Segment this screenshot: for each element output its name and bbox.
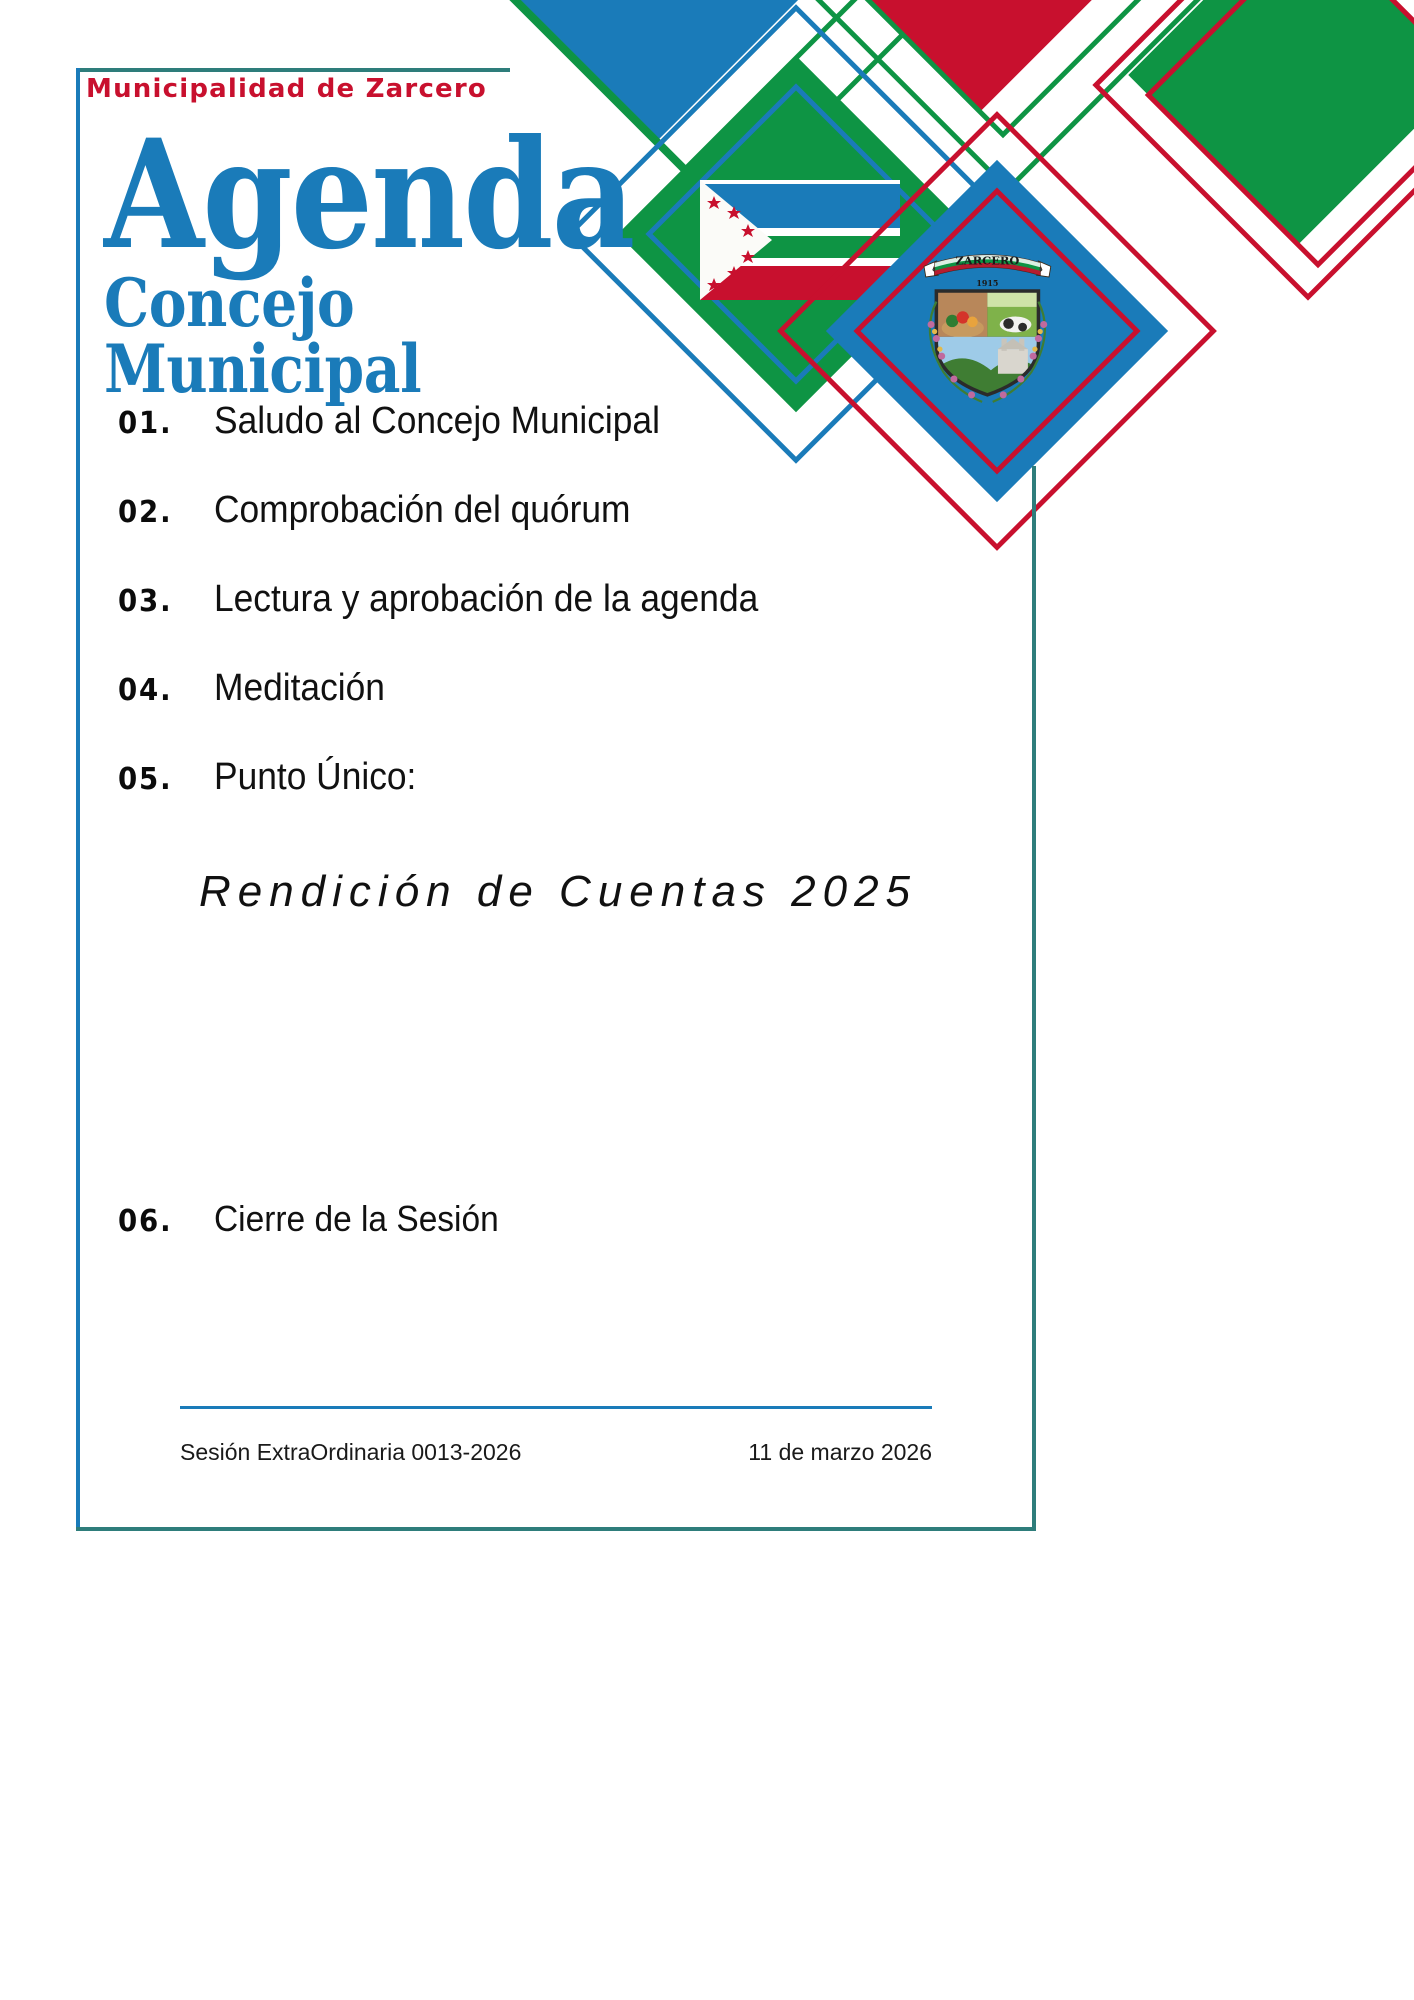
document-footer: Sesión ExtraOrdinaria 0013-2026 11 de ma… <box>180 1406 932 1466</box>
footer-divider <box>180 1406 932 1409</box>
session-label: Sesión ExtraOrdinaria 0013-2026 <box>180 1439 521 1466</box>
agenda-item-number: 06. <box>118 1204 206 1239</box>
agenda-item-number: 05. <box>118 762 206 797</box>
agenda-item-number: 03. <box>118 584 206 619</box>
frame-right-rule <box>1032 466 1036 1531</box>
session-date: 11 de marzo 2026 <box>748 1439 932 1466</box>
agenda-item-05: 05. Punto Único: <box>118 756 1018 799</box>
agenda-item-number: 01. <box>118 406 206 441</box>
agenda-item-01: 01. Saludo al Concejo Municipal <box>118 400 1018 443</box>
frame-bottom-rule <box>76 1527 1036 1531</box>
agenda-list: 01. Saludo al Concejo Municipal 02. Comp… <box>118 400 1018 845</box>
agenda-item-06: 06. Cierre de la Sesión <box>118 1198 520 1240</box>
agenda-item-number: 02. <box>118 495 206 530</box>
page-title: Agenda <box>104 126 687 264</box>
frame-top-rule <box>76 68 510 72</box>
agenda-item-label: Lectura y aprobación de la agenda <box>214 578 758 621</box>
document-header: Municipalidad de Zarcero Agenda Concejo … <box>82 74 782 402</box>
agenda-item-label: Punto Único: <box>214 756 416 799</box>
agenda-item-label: Meditación <box>214 667 385 710</box>
diamond-green-right <box>1096 0 1414 297</box>
agenda-item-label: Saludo al Concejo Municipal <box>214 400 660 443</box>
agenda-item-number: 04. <box>118 673 206 708</box>
agenda-item-label: Cierre de la Sesión <box>214 1198 499 1240</box>
agenda-item-04: 04. Meditación <box>118 667 1018 710</box>
agenda-item-02: 02. Comprobación del quórum <box>118 489 1018 532</box>
frame-left-rule <box>76 68 80 1531</box>
highlighted-agenda-point: Rendición de Cuentas 2025 <box>118 862 998 921</box>
agenda-item-label: Comprobación del quórum <box>214 489 630 532</box>
agenda-item-03: 03. Lectura y aprobación de la agenda <box>118 578 1018 621</box>
organization-name: Municipalidad de Zarcero <box>86 74 782 104</box>
page-subtitle: Concejo Municipal <box>104 270 687 402</box>
